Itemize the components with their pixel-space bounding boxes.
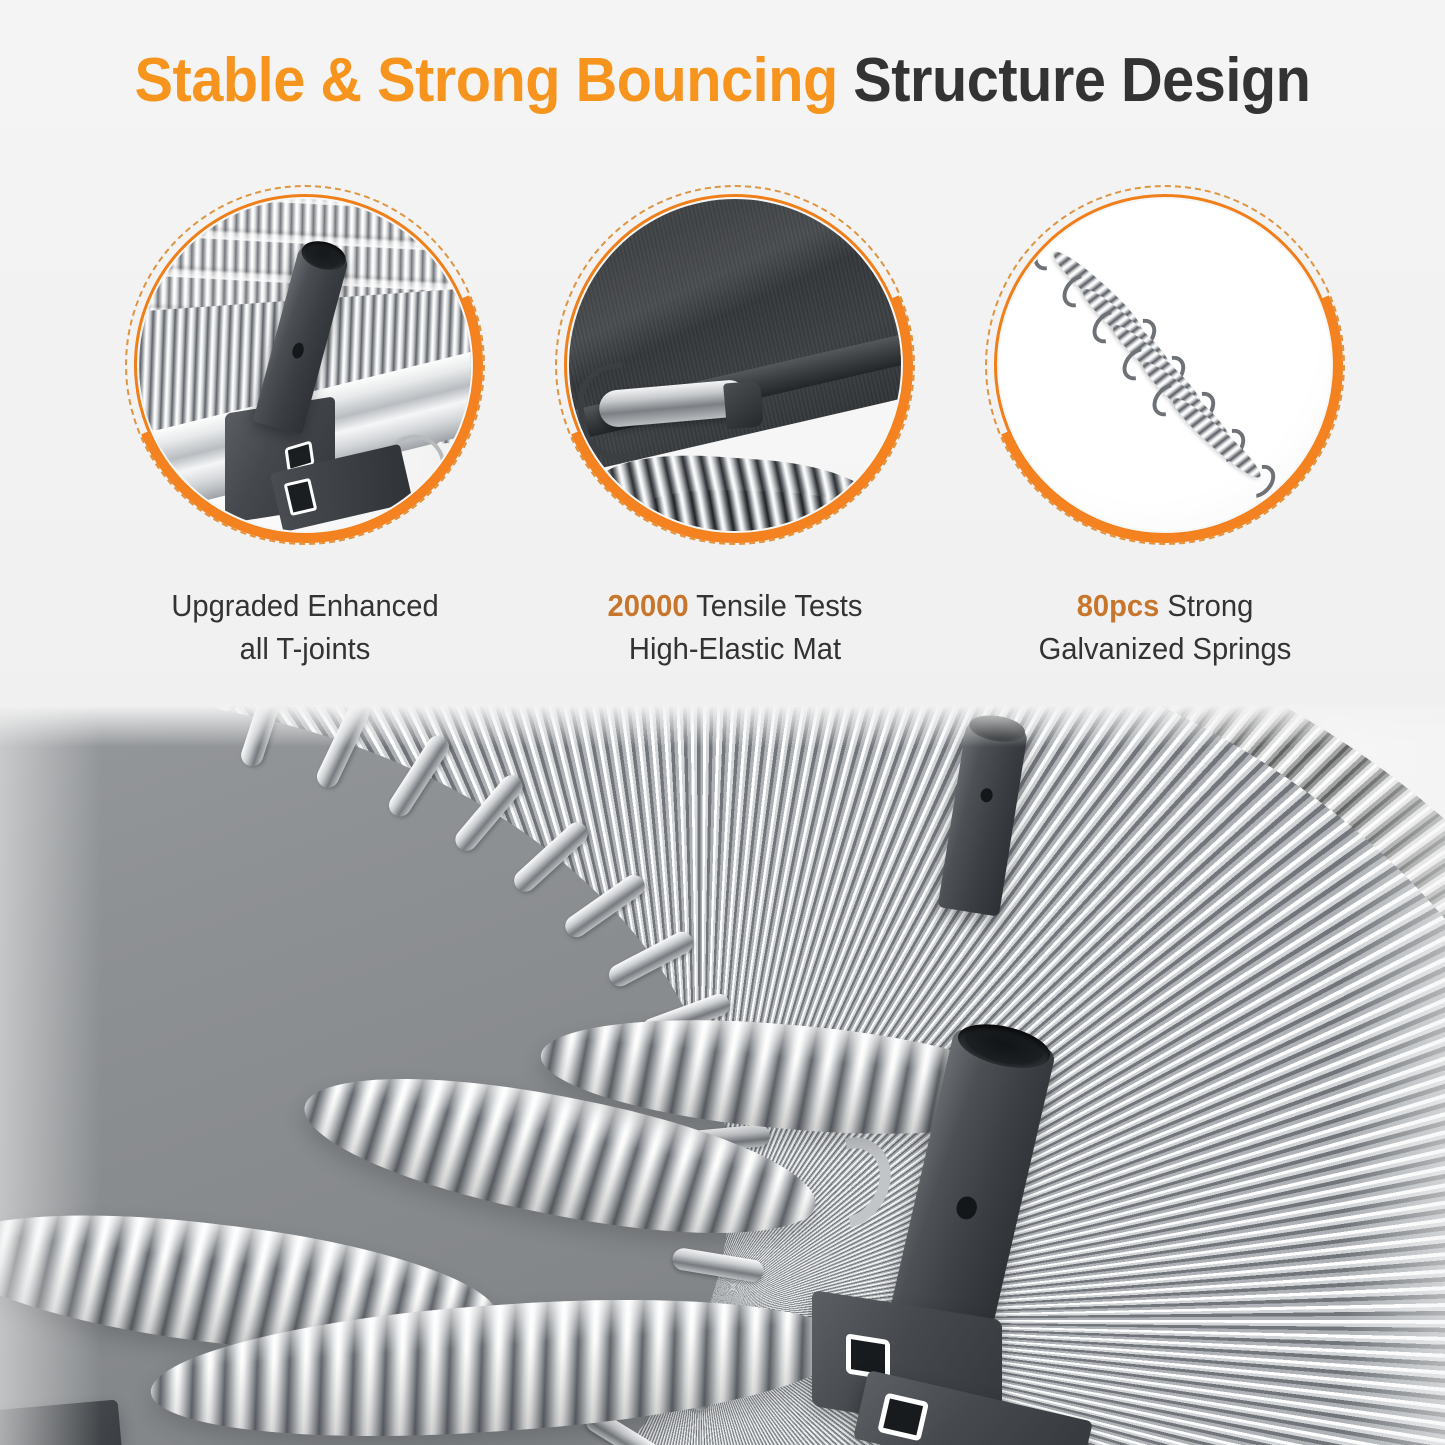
mat-v-ring bbox=[510, 817, 593, 895]
caption-text: Strong bbox=[1159, 588, 1253, 623]
pole-pin-hole bbox=[954, 1194, 979, 1221]
caption-text: High-Elastic Mat bbox=[629, 631, 841, 666]
feature-caption-galvanized-springs: 80pcs Strong Galvanized Springs bbox=[944, 585, 1386, 671]
caption-line-2: Galvanized Springs bbox=[944, 628, 1386, 671]
feature-item-high-elastic-mat: 20000 Tensile Tests High-Elastic Mat bbox=[520, 185, 950, 705]
caption-highlight: 80pcs bbox=[1077, 588, 1160, 623]
mat-v-ring bbox=[238, 705, 287, 769]
hero-product-photo bbox=[0, 705, 1445, 1445]
mat-v-ring bbox=[605, 928, 697, 990]
feature-caption-high-elastic-mat: 20000 Tensile Tests High-Elastic Mat bbox=[514, 585, 956, 671]
mat-v-ring bbox=[385, 731, 453, 820]
caption-text: Upgraded Enhanced bbox=[171, 588, 438, 623]
caption-text: Galvanized Springs bbox=[1039, 631, 1292, 666]
feature-caption-t-joints: Upgraded Enhanced all T-joints bbox=[84, 585, 526, 671]
caption-line-2: all T-joints bbox=[84, 628, 526, 671]
bracket-bolt-square bbox=[877, 1393, 929, 1442]
page-title: Stable & Strong Bouncing Structure Desig… bbox=[51, 48, 1395, 113]
feature-circle-galvanized-springs bbox=[985, 185, 1345, 545]
feature-circle-high-elastic-mat bbox=[555, 185, 915, 545]
page-title-highlight: Stable & Strong Bouncing bbox=[135, 46, 838, 115]
caption-line-1: Upgraded Enhanced bbox=[84, 585, 526, 628]
mat-v-ring bbox=[451, 771, 527, 855]
caption-highlight: 20000 bbox=[608, 588, 689, 623]
page-title-rest: Structure Design bbox=[838, 46, 1311, 115]
pole-pin-hole bbox=[979, 787, 993, 803]
caption-text: all T-joints bbox=[240, 631, 371, 666]
infographic-root: Stable & Strong Bouncing Structure Desig… bbox=[0, 0, 1445, 1445]
mat-v-ring bbox=[561, 870, 649, 941]
feature-item-galvanized-springs: 80pcs Strong Galvanized Springs bbox=[950, 185, 1380, 705]
caption-line-1: 20000 Tensile Tests bbox=[514, 585, 956, 628]
mat-v-ring bbox=[314, 705, 373, 791]
feature-item-t-joints: Upgraded Enhanced all T-joints bbox=[90, 185, 520, 705]
feature-circle-t-joints bbox=[125, 185, 485, 545]
caption-text: Tensile Tests bbox=[689, 588, 863, 623]
caption-line-2: High-Elastic Mat bbox=[514, 628, 956, 671]
caption-line-1: 80pcs Strong bbox=[944, 585, 1386, 628]
feature-row: Upgraded Enhanced all T-joints bbox=[0, 185, 1445, 705]
